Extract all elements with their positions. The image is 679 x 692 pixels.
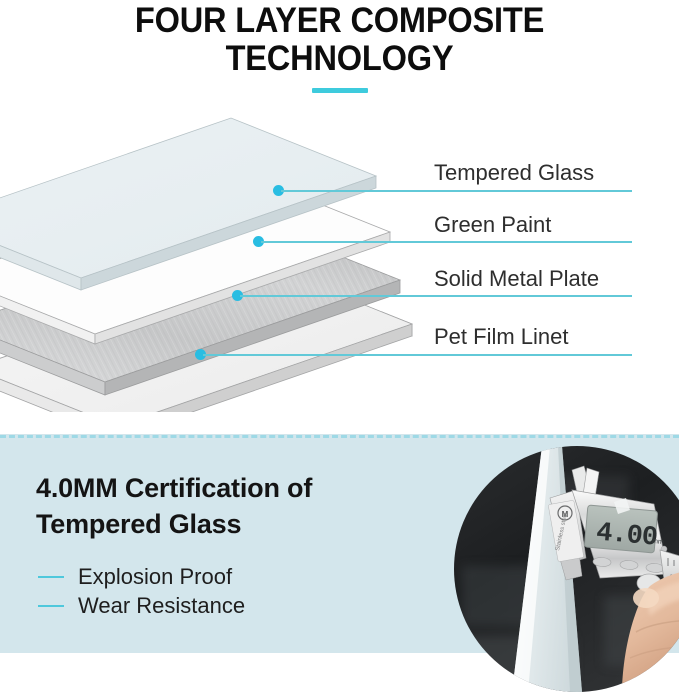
leader-line-solid-metal-plate [240,295,632,297]
leader-line-pet-film-linet [203,354,632,356]
panel-dashed-divider [0,435,679,438]
layer-label-green-paint: Green Paint [434,212,551,238]
dash-bullet-icon [38,576,64,578]
layer-label-solid-metal-plate: Solid Metal Plate [434,266,599,292]
layer-label-tempered-glass: Tempered Glass [434,160,594,186]
leader-line-green-paint [261,241,632,243]
caliper-unit: mm [652,538,664,546]
layer-label-pet-film-linet: Pet Film Linet [434,324,569,350]
dash-bullet-icon [38,605,64,607]
feature-label: Wear Resistance [78,593,245,619]
feature-list: Explosion Proof Wear Resistance [38,562,368,620]
feature-label: Explosion Proof [78,564,232,590]
list-item: Wear Resistance [38,591,368,620]
leader-line-tempered-glass [281,190,632,192]
caliper-photo: M Stainless steel 4.00 mm [454,446,679,692]
layer-stack-diagram [0,62,422,412]
composite-technology-panel: FOUR LAYER COMPOSITE TECHNOLOGY [0,0,679,434]
list-item: Explosion Proof [38,562,368,591]
caliper-measurement: 4.00 [595,518,658,553]
certification-heading: 4.0MM Certification of Tempered Glass [36,470,376,542]
